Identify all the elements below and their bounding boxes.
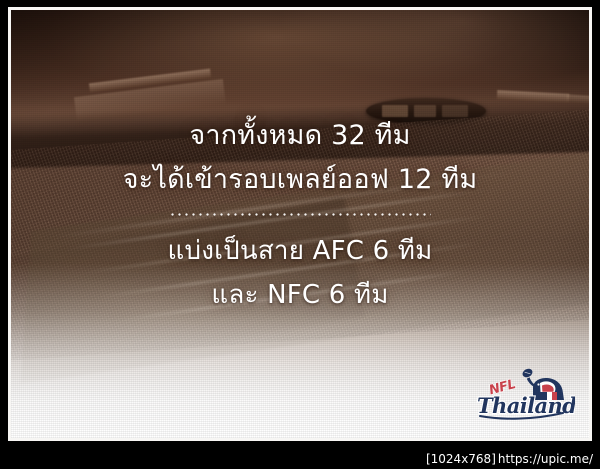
- caption-block: จากทั้งหมด 32 ทีม จะได้เข้ารอบเพลย์ออฟ 1…: [11, 114, 589, 317]
- image-dimensions-label: [1024x768]: [426, 452, 496, 466]
- source-url-label[interactable]: https://upic.me/: [498, 452, 593, 466]
- dotted-divider: [169, 213, 431, 216]
- image-card: จากทั้งหมด 32 ทีม จะได้เข้ารอบเพลย์ออฟ 1…: [0, 0, 600, 448]
- image-info-bar: [1024x768] https://upic.me/: [0, 448, 600, 469]
- nfl-thailand-logo: NFL Thailand: [471, 366, 575, 422]
- image-border-frame: จากทั้งหมด 32 ทีม จะได้เข้ารอบเพลย์ออฟ 1…: [8, 7, 592, 441]
- screenshot-root: จากทั้งหมด 32 ทีม จะได้เข้ารอบเพลย์ออฟ 1…: [0, 0, 600, 469]
- stadium-photo: จากทั้งหมด 32 ทีม จะได้เข้ารอบเพลย์ออฟ 1…: [11, 10, 589, 438]
- football-icon: [521, 367, 534, 379]
- caption-line-3: แบ่งเป็นสาย AFC 6 ทีม: [11, 229, 589, 273]
- caption-line-2: จะได้เข้ารอบเพลย์ออฟ 12 ทีม: [11, 158, 589, 202]
- caption-line-1: จากทั้งหมด 32 ทีม: [11, 114, 589, 158]
- thailand-wordmark: Thailand: [477, 393, 575, 419]
- caption-line-4: และ NFC 6 ทีม: [11, 273, 589, 317]
